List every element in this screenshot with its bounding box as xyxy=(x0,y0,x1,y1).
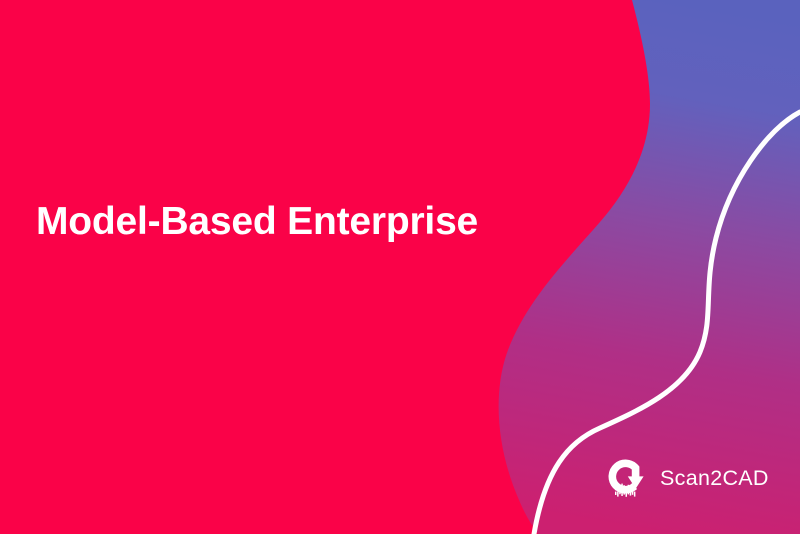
page-title: Model-Based Enterprise xyxy=(36,199,478,245)
banner-card: Model-Based Enterprise xyxy=(0,0,800,534)
background-decoration xyxy=(0,0,800,534)
scan2cad-circular-arrow-icon xyxy=(604,455,650,501)
brand-wordmark: Scan2CAD xyxy=(660,468,769,490)
gradient-wave-blob xyxy=(499,0,800,534)
brand-logo[interactable]: Scan2CAD xyxy=(604,455,769,501)
